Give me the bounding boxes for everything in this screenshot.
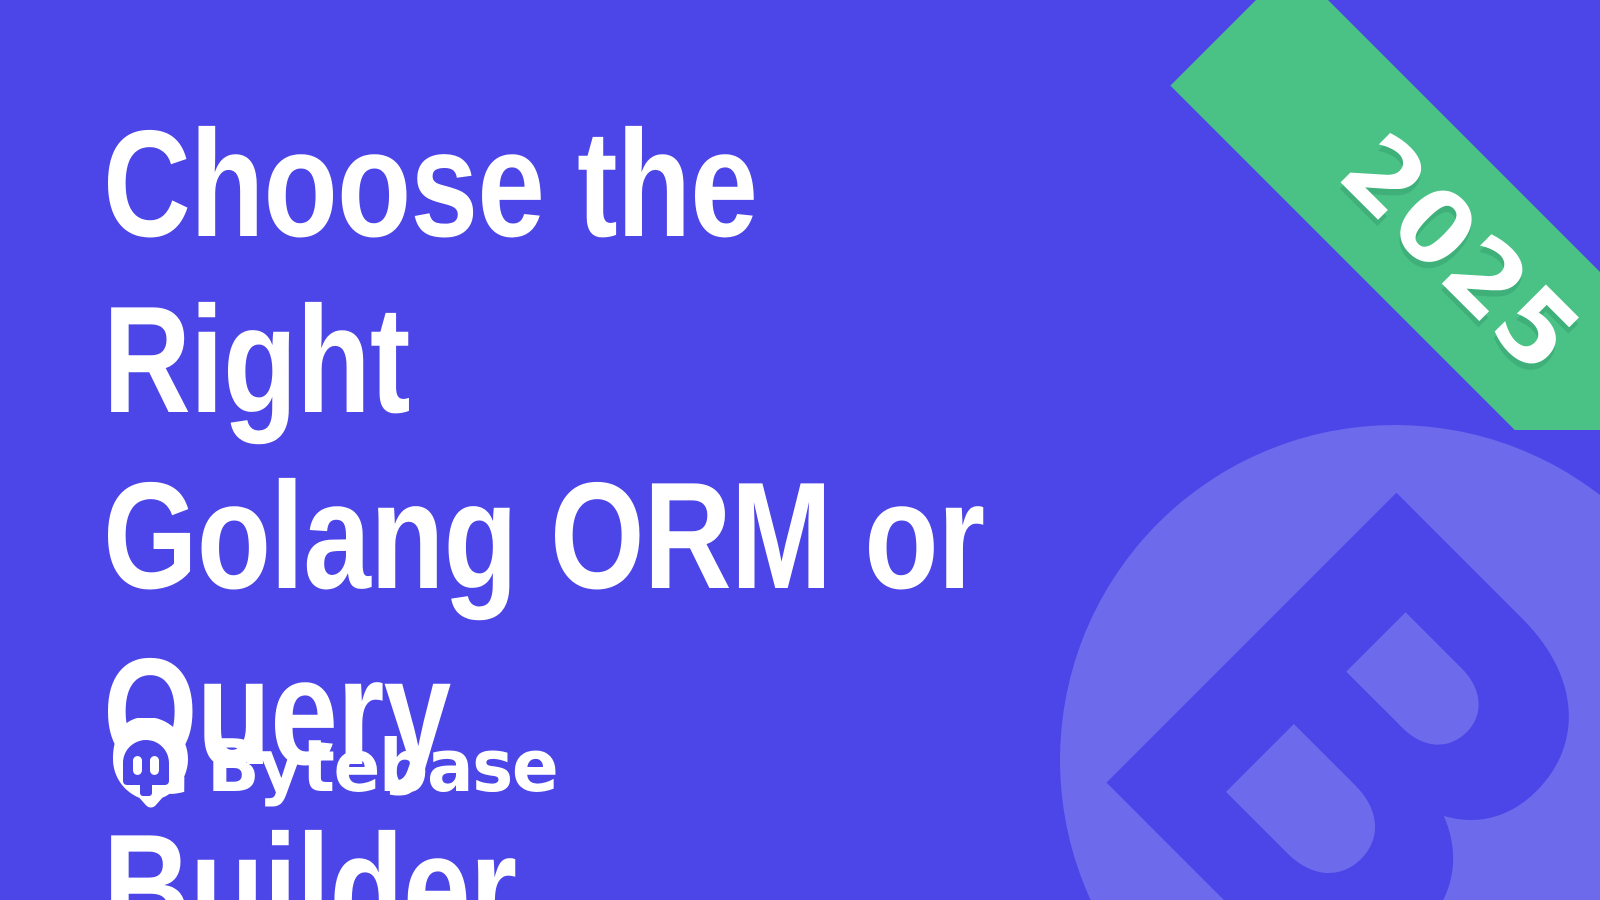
bytebase-logo-lockup: Bytebase <box>103 718 572 813</box>
watermark-circle <box>1060 425 1600 900</box>
bytebase-logo-mark <box>103 718 189 813</box>
watermark-letter-b <box>1107 493 1600 900</box>
bytebase-wordmark: Bytebase <box>207 730 557 802</box>
logo-bar-left <box>133 756 142 775</box>
blog-cover-banner: 2025 Choose the Right Golang ORM or Quer… <box>0 0 1600 900</box>
watermark-svg <box>1055 420 1600 900</box>
logo-mark-svg <box>103 718 189 808</box>
year-corner-ribbon: 2025 <box>1170 0 1600 430</box>
logo-bar-right <box>150 756 159 775</box>
bytebase-b-monogram-watermark <box>1055 420 1600 900</box>
ribbon-band: 2025 <box>1170 0 1600 430</box>
ribbon-year-label: 2025 <box>1324 117 1597 390</box>
